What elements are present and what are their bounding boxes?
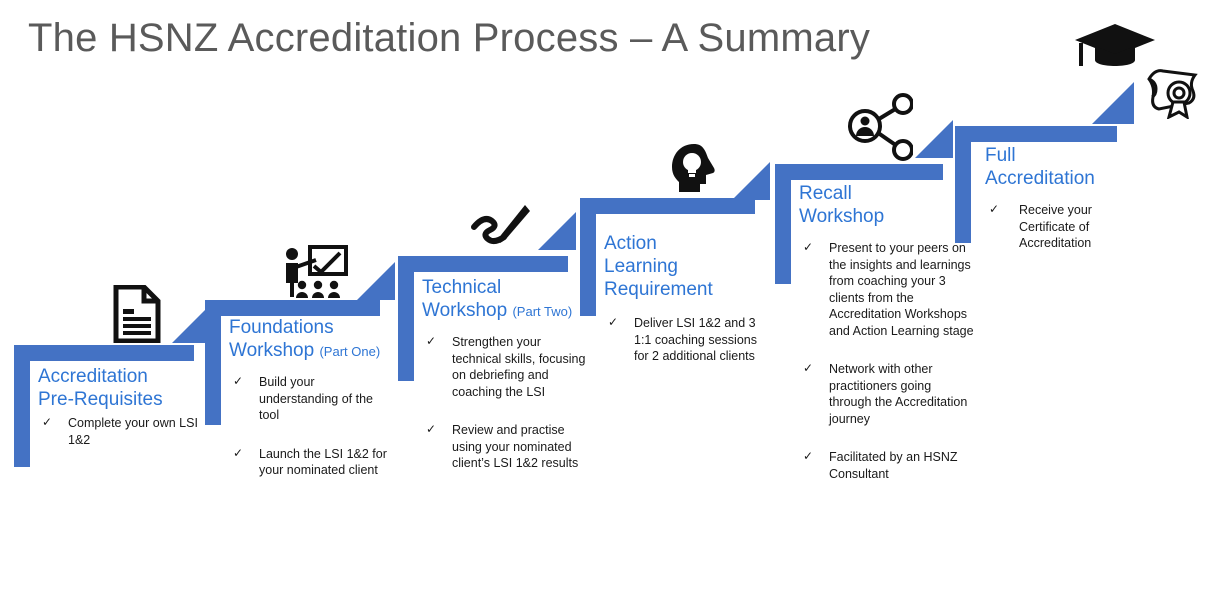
step-bullet-list: ✓ Deliver LSI 1&2 and 3 1:1 coaching ses… [604, 315, 769, 365]
bracket-left-bar [14, 345, 30, 467]
check-icon: ✓ [426, 333, 436, 350]
step-heading-line1: Accreditation [38, 366, 148, 387]
bracket-left-bar [398, 256, 414, 381]
list-item: ✓ Launch the LSI 1&2 for your nominated … [229, 446, 389, 479]
list-item-text: Receive your Certificate of Accreditatio… [1019, 203, 1092, 250]
check-icon: ✓ [42, 414, 52, 431]
check-icon: ✓ [803, 239, 813, 256]
step-heading-sub: (Part Two) [512, 304, 572, 319]
step-heading-line2: Accreditation [985, 168, 1095, 189]
check-icon: ✓ [233, 373, 243, 390]
list-item: ✓ Receive your Certificate of Accreditat… [985, 202, 1145, 252]
bracket-top-bar [955, 126, 1117, 142]
step-heading-line2: Workshop [799, 206, 884, 227]
step-heading-line2: Learning [604, 256, 678, 277]
list-item-text: Present to your peers on the insights an… [829, 241, 974, 338]
list-item-text: Deliver LSI 1&2 and 3 1:1 coaching sessi… [634, 316, 757, 363]
list-item: ✓ Review and practise using your nominat… [422, 422, 587, 472]
bracket-top-bar [14, 345, 194, 361]
step-bullet-list: ✓ Build your understanding of the tool ✓… [229, 374, 389, 479]
step-bullet-list: ✓ Strengthen your technical skills, focu… [422, 334, 587, 472]
step-body: Full Accreditation ✓ Receive your Certif… [985, 144, 1145, 252]
list-item-text: Network with other practitioners going t… [829, 362, 967, 426]
check-icon: ✓ [233, 445, 243, 462]
check-icon: ✓ [426, 421, 436, 438]
step-bullet-list: ✓ Receive your Certificate of Accreditat… [985, 202, 1145, 252]
step-heading-line1: Action [604, 233, 657, 254]
step-heading-line2: Workshop [229, 340, 314, 361]
step-heading: Recall Workshop [799, 182, 974, 228]
check-icon: ✓ [803, 448, 813, 465]
step-heading-line3: Requirement [604, 279, 713, 300]
pen-signature-icon [470, 203, 532, 251]
triangle-accent [915, 120, 953, 158]
step-bullet-list: ✓ Complete your own LSI 1&2 [38, 415, 198, 448]
step-heading-line1: Technical [422, 277, 501, 298]
list-item: ✓ Deliver LSI 1&2 and 3 1:1 coaching ses… [604, 315, 769, 365]
bracket-left-bar [775, 164, 791, 284]
step-bullet-list: ✓ Present to your peers on the insights … [799, 240, 974, 482]
list-item: ✓ Present to your peers on the insights … [799, 240, 974, 339]
list-item-text: Complete your own LSI 1&2 [68, 416, 198, 447]
step-body: Accreditation Pre-Requisites ✓ Complete … [38, 365, 198, 448]
step-heading: Foundations Workshop (Part One) [229, 316, 389, 362]
step-action-learning-requirement[interactable]: Action Learning Requirement ✓ Deliver LS… [580, 140, 780, 420]
slide-canvas: The HSNZ Accreditation Process – A Summa… [0, 0, 1226, 604]
step-heading: Accreditation Pre-Requisites [38, 365, 198, 411]
presenter-icon [278, 245, 350, 300]
list-item: ✓ Build your understanding of the tool [229, 374, 389, 424]
step-body: Technical Workshop (Part Two) ✓ Strength… [422, 276, 587, 472]
list-item-text: Build your understanding of the tool [259, 375, 373, 422]
bracket-top-bar [398, 256, 568, 272]
step-body: Action Learning Requirement ✓ Deliver LS… [604, 232, 769, 365]
list-item-text: Facilitated by an HSNZ Consultant [829, 450, 958, 481]
list-item-text: Launch the LSI 1&2 for your nominated cl… [259, 447, 387, 478]
bracket-left-bar [580, 198, 596, 316]
list-item: ✓ Network with other practitioners going… [799, 361, 974, 427]
page-title: The HSNZ Accreditation Process – A Summa… [28, 16, 870, 61]
check-icon: ✓ [989, 201, 999, 218]
diploma-scroll-icon [1141, 67, 1203, 119]
step-body: Recall Workshop ✓ Present to your peers … [799, 182, 974, 482]
list-item-text: Strengthen your technical skills, focusi… [452, 335, 585, 399]
bracket-top-bar [580, 198, 755, 214]
bracket-left-bar [205, 300, 221, 425]
step-body: Foundations Workshop (Part One) ✓ Build … [229, 316, 389, 479]
list-item-text: Review and practise using your nominated… [452, 423, 578, 470]
step-foundations-workshop[interactable]: Foundations Workshop (Part One) ✓ Build … [205, 240, 405, 570]
check-icon: ✓ [803, 360, 813, 377]
step-technical-workshop[interactable]: Technical Workshop (Part Two) ✓ Strength… [398, 200, 598, 560]
head-lightbulb-icon [670, 142, 726, 198]
step-heading: Technical Workshop (Part Two) [422, 276, 587, 322]
triangle-accent [1092, 82, 1134, 124]
network-share-icon [845, 92, 913, 162]
step-heading-sub: (Part One) [319, 344, 380, 359]
step-heading-line2: Workshop [422, 300, 507, 321]
step-accreditation-pre-requisites[interactable]: Accreditation Pre-Requisites ✓ Complete … [14, 285, 214, 585]
document-icon [106, 285, 166, 343]
triangle-accent [538, 212, 576, 250]
bracket-top-bar [775, 164, 943, 180]
list-item: ✓ Complete your own LSI 1&2 [38, 415, 198, 448]
list-item: ✓ Facilitated by an HSNZ Consultant [799, 449, 974, 482]
bracket-top-bar [205, 300, 380, 316]
step-recall-workshop[interactable]: Recall Workshop ✓ Present to your peers … [775, 92, 980, 592]
step-heading: Full Accreditation [985, 144, 1145, 190]
step-heading-line1: Recall [799, 183, 852, 204]
triangle-accent [357, 262, 395, 300]
check-icon: ✓ [608, 314, 618, 331]
step-heading-line1: Foundations [229, 317, 334, 338]
step-full-accreditation[interactable]: Full Accreditation ✓ Receive your Certif… [955, 22, 1185, 302]
bracket-left-bar [955, 126, 971, 243]
triangle-accent [732, 162, 770, 200]
step-heading-line1: Full [985, 145, 1016, 166]
list-item: ✓ Strengthen your technical skills, focu… [422, 334, 587, 400]
step-heading-line2: Pre-Requisites [38, 389, 163, 410]
step-heading: Action Learning Requirement [604, 232, 769, 301]
